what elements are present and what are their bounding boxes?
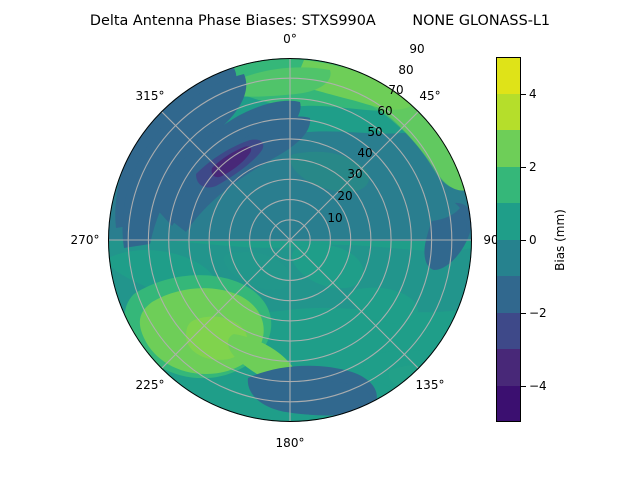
theta-tick-label-225: 225°: [136, 378, 165, 392]
r-tick-label-10: 10: [327, 211, 342, 225]
colorbar-band-6: [496, 167, 521, 204]
colorbar-gradient: [496, 57, 521, 422]
chart-title: Delta Antenna Phase Biases: STXS990A NON…: [0, 10, 640, 32]
theta-tick-label-0: 0°: [283, 32, 297, 46]
r-tick-label-90: 90: [409, 42, 424, 56]
colorbar-tick-label-m2: −2: [529, 306, 547, 320]
r-tick-label-20: 20: [337, 189, 352, 203]
theta-tick-label-180: 180°: [276, 436, 305, 450]
colorbar-band-9: [496, 57, 521, 94]
r-tick-label-80: 80: [398, 63, 413, 77]
r-tick-label-40: 40: [357, 146, 372, 160]
chart-title-text: Delta Antenna Phase Biases: STXS990A NON…: [90, 13, 550, 29]
colorbar-tick-m2: [521, 313, 526, 314]
theta-tick-label-45: 45°: [419, 89, 440, 103]
colorbar-band-2: [496, 313, 521, 350]
colorbar-tick-m4: [521, 386, 526, 387]
colorbar-band-4: [496, 240, 521, 277]
colorbar-tick-label-m4: −4: [529, 379, 547, 393]
r-tick-label-30: 30: [347, 167, 362, 181]
colorbar-band-0: [496, 386, 521, 423]
colorbar-tick-label-4: 4: [529, 87, 537, 101]
r-tick-label-60: 60: [377, 104, 392, 118]
polar-axes: 10 20 30 40 50 60 70 80 90: [108, 58, 472, 422]
polar-gridlines: [108, 58, 472, 422]
colorbar-tick-0: [521, 240, 526, 241]
colorbar-band-1: [496, 349, 521, 386]
colorbar-axis-label: Bias (mm): [553, 209, 567, 271]
colorbar: 4 2 0 −2 −4: [496, 57, 521, 422]
colorbar-band-3: [496, 276, 521, 313]
colorbar-tick-label-2: 2: [529, 160, 537, 174]
colorbar-band-5: [496, 203, 521, 240]
theta-tick-label-270: 270°: [71, 233, 100, 247]
polar-data-region: [108, 58, 472, 422]
r-tick-label-50: 50: [367, 125, 382, 139]
theta-tick-label-315: 315°: [136, 89, 165, 103]
colorbar-tick-4: [521, 94, 526, 95]
colorbar-tick-label-0: 0: [529, 233, 537, 247]
colorbar-band-7: [496, 130, 521, 167]
theta-tick-label-135: 135°: [416, 378, 445, 392]
colorbar-band-8: [496, 94, 521, 131]
colorbar-tick-2: [521, 167, 526, 168]
r-tick-label-70: 70: [388, 83, 403, 97]
figure-canvas: Delta Antenna Phase Biases: STXS990A NON…: [0, 0, 640, 480]
